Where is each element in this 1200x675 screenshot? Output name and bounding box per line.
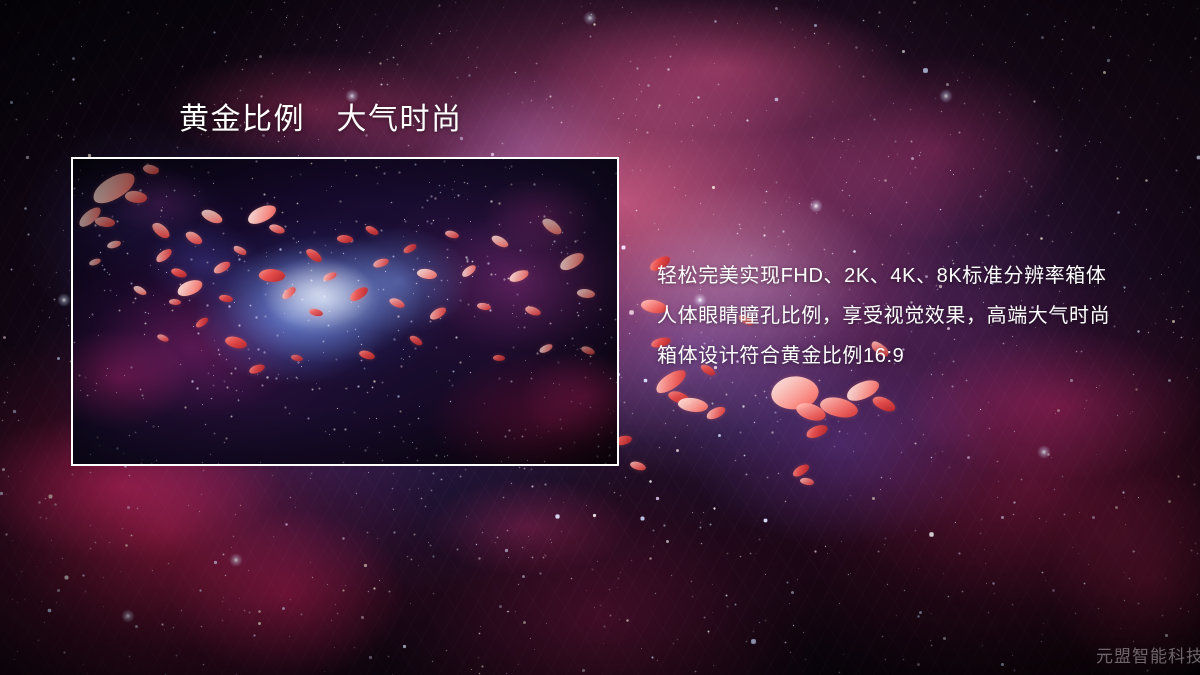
picture-vignette [73, 159, 617, 464]
petal [677, 395, 709, 416]
petal [107, 240, 122, 249]
petal [218, 293, 233, 304]
picture-starfield [73, 159, 617, 464]
petal [705, 405, 727, 421]
petal [194, 316, 210, 329]
petal [805, 424, 829, 440]
petal [142, 162, 160, 176]
petal [871, 393, 898, 416]
body-line-2: 人体眼睛瞳孔比例，享受视觉效果，高端大气时尚 [657, 296, 1157, 336]
petal [212, 260, 232, 275]
petal [184, 228, 204, 247]
petal [156, 332, 169, 343]
petal [170, 266, 188, 280]
petal [558, 251, 587, 273]
watermark: 元盟智能科技 [1096, 642, 1200, 667]
petal [308, 307, 324, 318]
petal [540, 215, 563, 238]
petal [248, 363, 265, 374]
petal [460, 264, 478, 279]
petal [224, 333, 249, 351]
petal [476, 301, 491, 312]
petal [94, 215, 116, 230]
petal [408, 333, 423, 347]
petal [290, 353, 303, 363]
petal [124, 188, 148, 206]
petal [169, 298, 182, 306]
petal [176, 278, 205, 298]
petal [538, 343, 553, 354]
picture-nebula-blue [73, 159, 617, 464]
petal [154, 247, 174, 264]
petal [428, 306, 448, 322]
petal [348, 285, 370, 303]
body-text-block: 轻松完美实现FHD、2K、4K、8K标准分辨率箱体 人体眼睛瞳孔比例，享受视觉效… [657, 256, 1157, 376]
petal [258, 267, 286, 284]
petal [416, 266, 438, 281]
petal [844, 378, 881, 404]
petal [364, 224, 379, 238]
petal [358, 348, 376, 362]
picture-nebula-base [73, 159, 617, 464]
petal [232, 244, 248, 258]
petal [791, 463, 811, 479]
petal [76, 205, 104, 229]
petal [245, 203, 278, 227]
petal [280, 285, 298, 300]
page-title: 黄金比例 大气时尚 [179, 101, 463, 139]
petal [508, 269, 530, 284]
framed-image [71, 157, 619, 466]
body-line-3: 箱体设计符合黄金比例16:9 [657, 336, 1157, 376]
petal [769, 372, 821, 415]
body-line-1: 轻松完美实现FHD、2K、4K、8K标准分辨率箱体 [657, 256, 1157, 296]
picture-nebula-magenta [73, 159, 617, 464]
petal [268, 222, 286, 236]
petal [524, 304, 542, 318]
petal [818, 392, 860, 423]
petal [576, 287, 596, 300]
petal [89, 258, 102, 266]
petal [89, 169, 140, 208]
petal [336, 233, 353, 244]
petal [667, 388, 692, 408]
petal [629, 459, 647, 473]
petal [200, 206, 224, 227]
petal [388, 296, 406, 311]
petal [490, 233, 510, 251]
petal [444, 229, 460, 241]
petal [372, 258, 389, 269]
presentation-slide: 黄金比例 大气时尚 轻松完美实现FHD、2K、4K、8K标准分辨率箱体 人体眼睛… [0, 0, 1200, 675]
petal [150, 219, 172, 241]
petal [132, 284, 147, 298]
picture-nebula-core [73, 159, 617, 464]
petal [799, 476, 814, 487]
picture-petal-group [73, 159, 617, 464]
petal [794, 398, 828, 426]
petal [493, 354, 506, 362]
petal [322, 271, 337, 282]
petal [402, 243, 418, 254]
petal [580, 344, 596, 357]
petal [304, 246, 323, 265]
